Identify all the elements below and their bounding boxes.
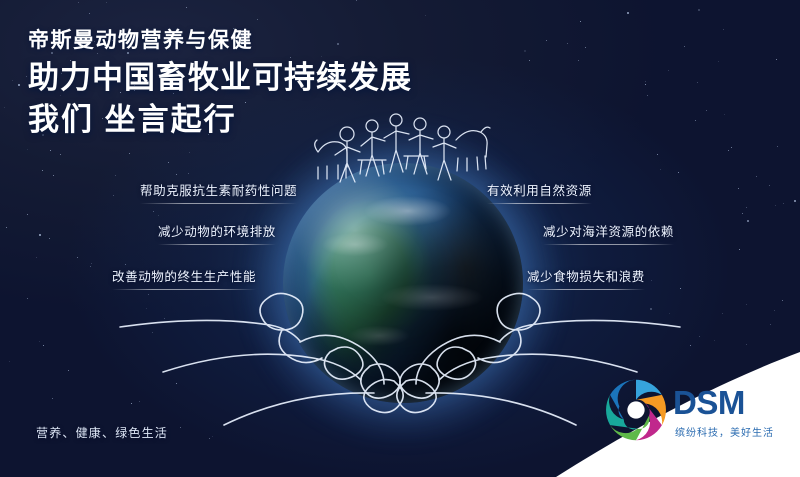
headline-eyebrow: 帝斯曼动物营养与保健 xyxy=(28,28,588,54)
headline-block: 帝斯曼动物营养与保健 助力中国畜牧业可持续发展 我们 坐言起行 xyxy=(28,28,588,140)
feature-label-left-1: 帮助克服抗生素耐药性问题 xyxy=(140,180,297,204)
feature-label-left-2: 减少动物的环境排放 xyxy=(158,221,276,245)
dsm-wordmark: DSM xyxy=(673,386,745,419)
headline-line1: 助力中国畜牧业可持续发展 xyxy=(28,58,588,98)
line-art-hands xyxy=(120,293,680,425)
poster-canvas: 帝斯曼动物营养与保健 助力中国畜牧业可持续发展 我们 坐言起行 帮助克服抗生素耐… xyxy=(0,0,800,477)
dsm-logo-tagline: 缤纷科技，美好生活 xyxy=(675,424,774,439)
feature-label-right-1: 有效利用自然资源 xyxy=(487,180,592,204)
dsm-logo-mark-icon xyxy=(600,374,672,446)
feature-label-right-2: 减少对海洋资源的依赖 xyxy=(543,221,674,245)
headline-line2: 我们 坐言起行 xyxy=(28,100,588,140)
feature-label-left-3: 改善动物的终生生产性能 xyxy=(112,266,256,290)
bottom-tagline: 营养、健康、绿色生活 xyxy=(36,424,168,441)
dsm-logo: DSM 缤纷科技，美好生活 xyxy=(600,372,780,452)
feature-label-right-3: 减少食物损失和浪费 xyxy=(527,266,645,290)
